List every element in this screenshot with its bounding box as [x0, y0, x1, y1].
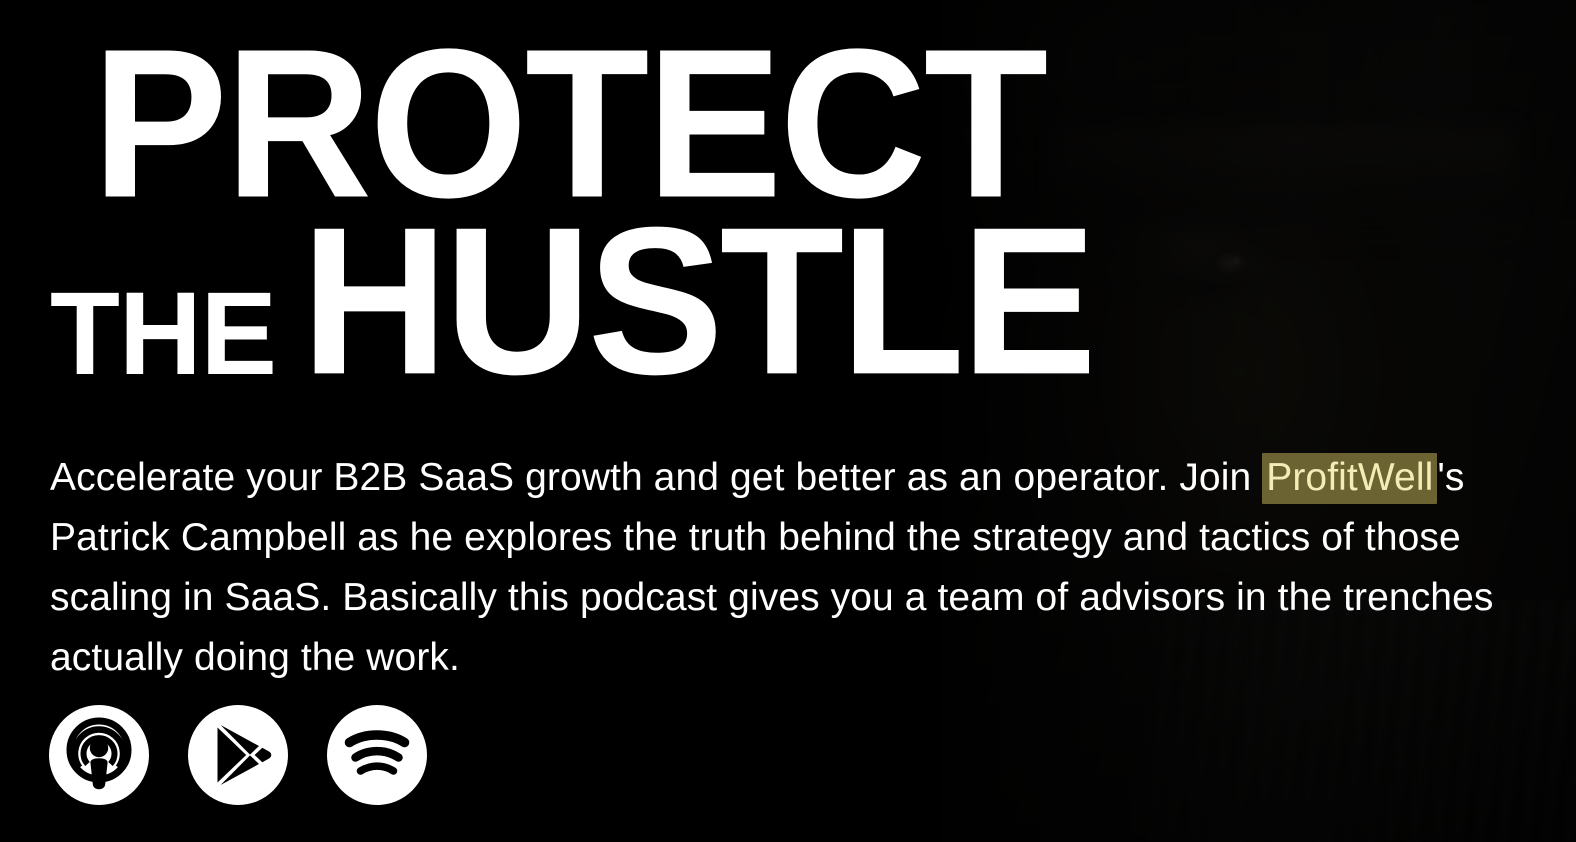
- portrait-eye: [1175, 235, 1285, 291]
- podcast-logo: PROTECT THE HUSTLE: [50, 18, 1100, 368]
- podcast-hero-banner: PROTECT THE HUSTLE Accelerate your B2B S…: [0, 0, 1576, 842]
- logo-word-the: THE: [50, 275, 276, 393]
- portrait-brow-shadow: [1055, 128, 1515, 248]
- google-play-icon: [188, 705, 288, 805]
- spotify-link[interactable]: [327, 705, 427, 805]
- profitwell-link[interactable]: ProfitWell: [1262, 453, 1437, 504]
- logo-word-hustle: HUSTLE: [301, 196, 1093, 406]
- google-play-link[interactable]: [188, 705, 288, 805]
- apple-podcasts-link[interactable]: [49, 705, 149, 805]
- podcast-description: Accelerate your B2B SaaS growth and get …: [50, 448, 1540, 688]
- spotify-icon: [327, 705, 427, 805]
- apple-podcasts-icon: [49, 705, 149, 805]
- podcast-platform-links: [49, 705, 427, 805]
- description-text-before-link: Accelerate your B2B SaaS growth and get …: [50, 456, 1262, 499]
- logo-line-protect: PROTECT: [92, 18, 1080, 204]
